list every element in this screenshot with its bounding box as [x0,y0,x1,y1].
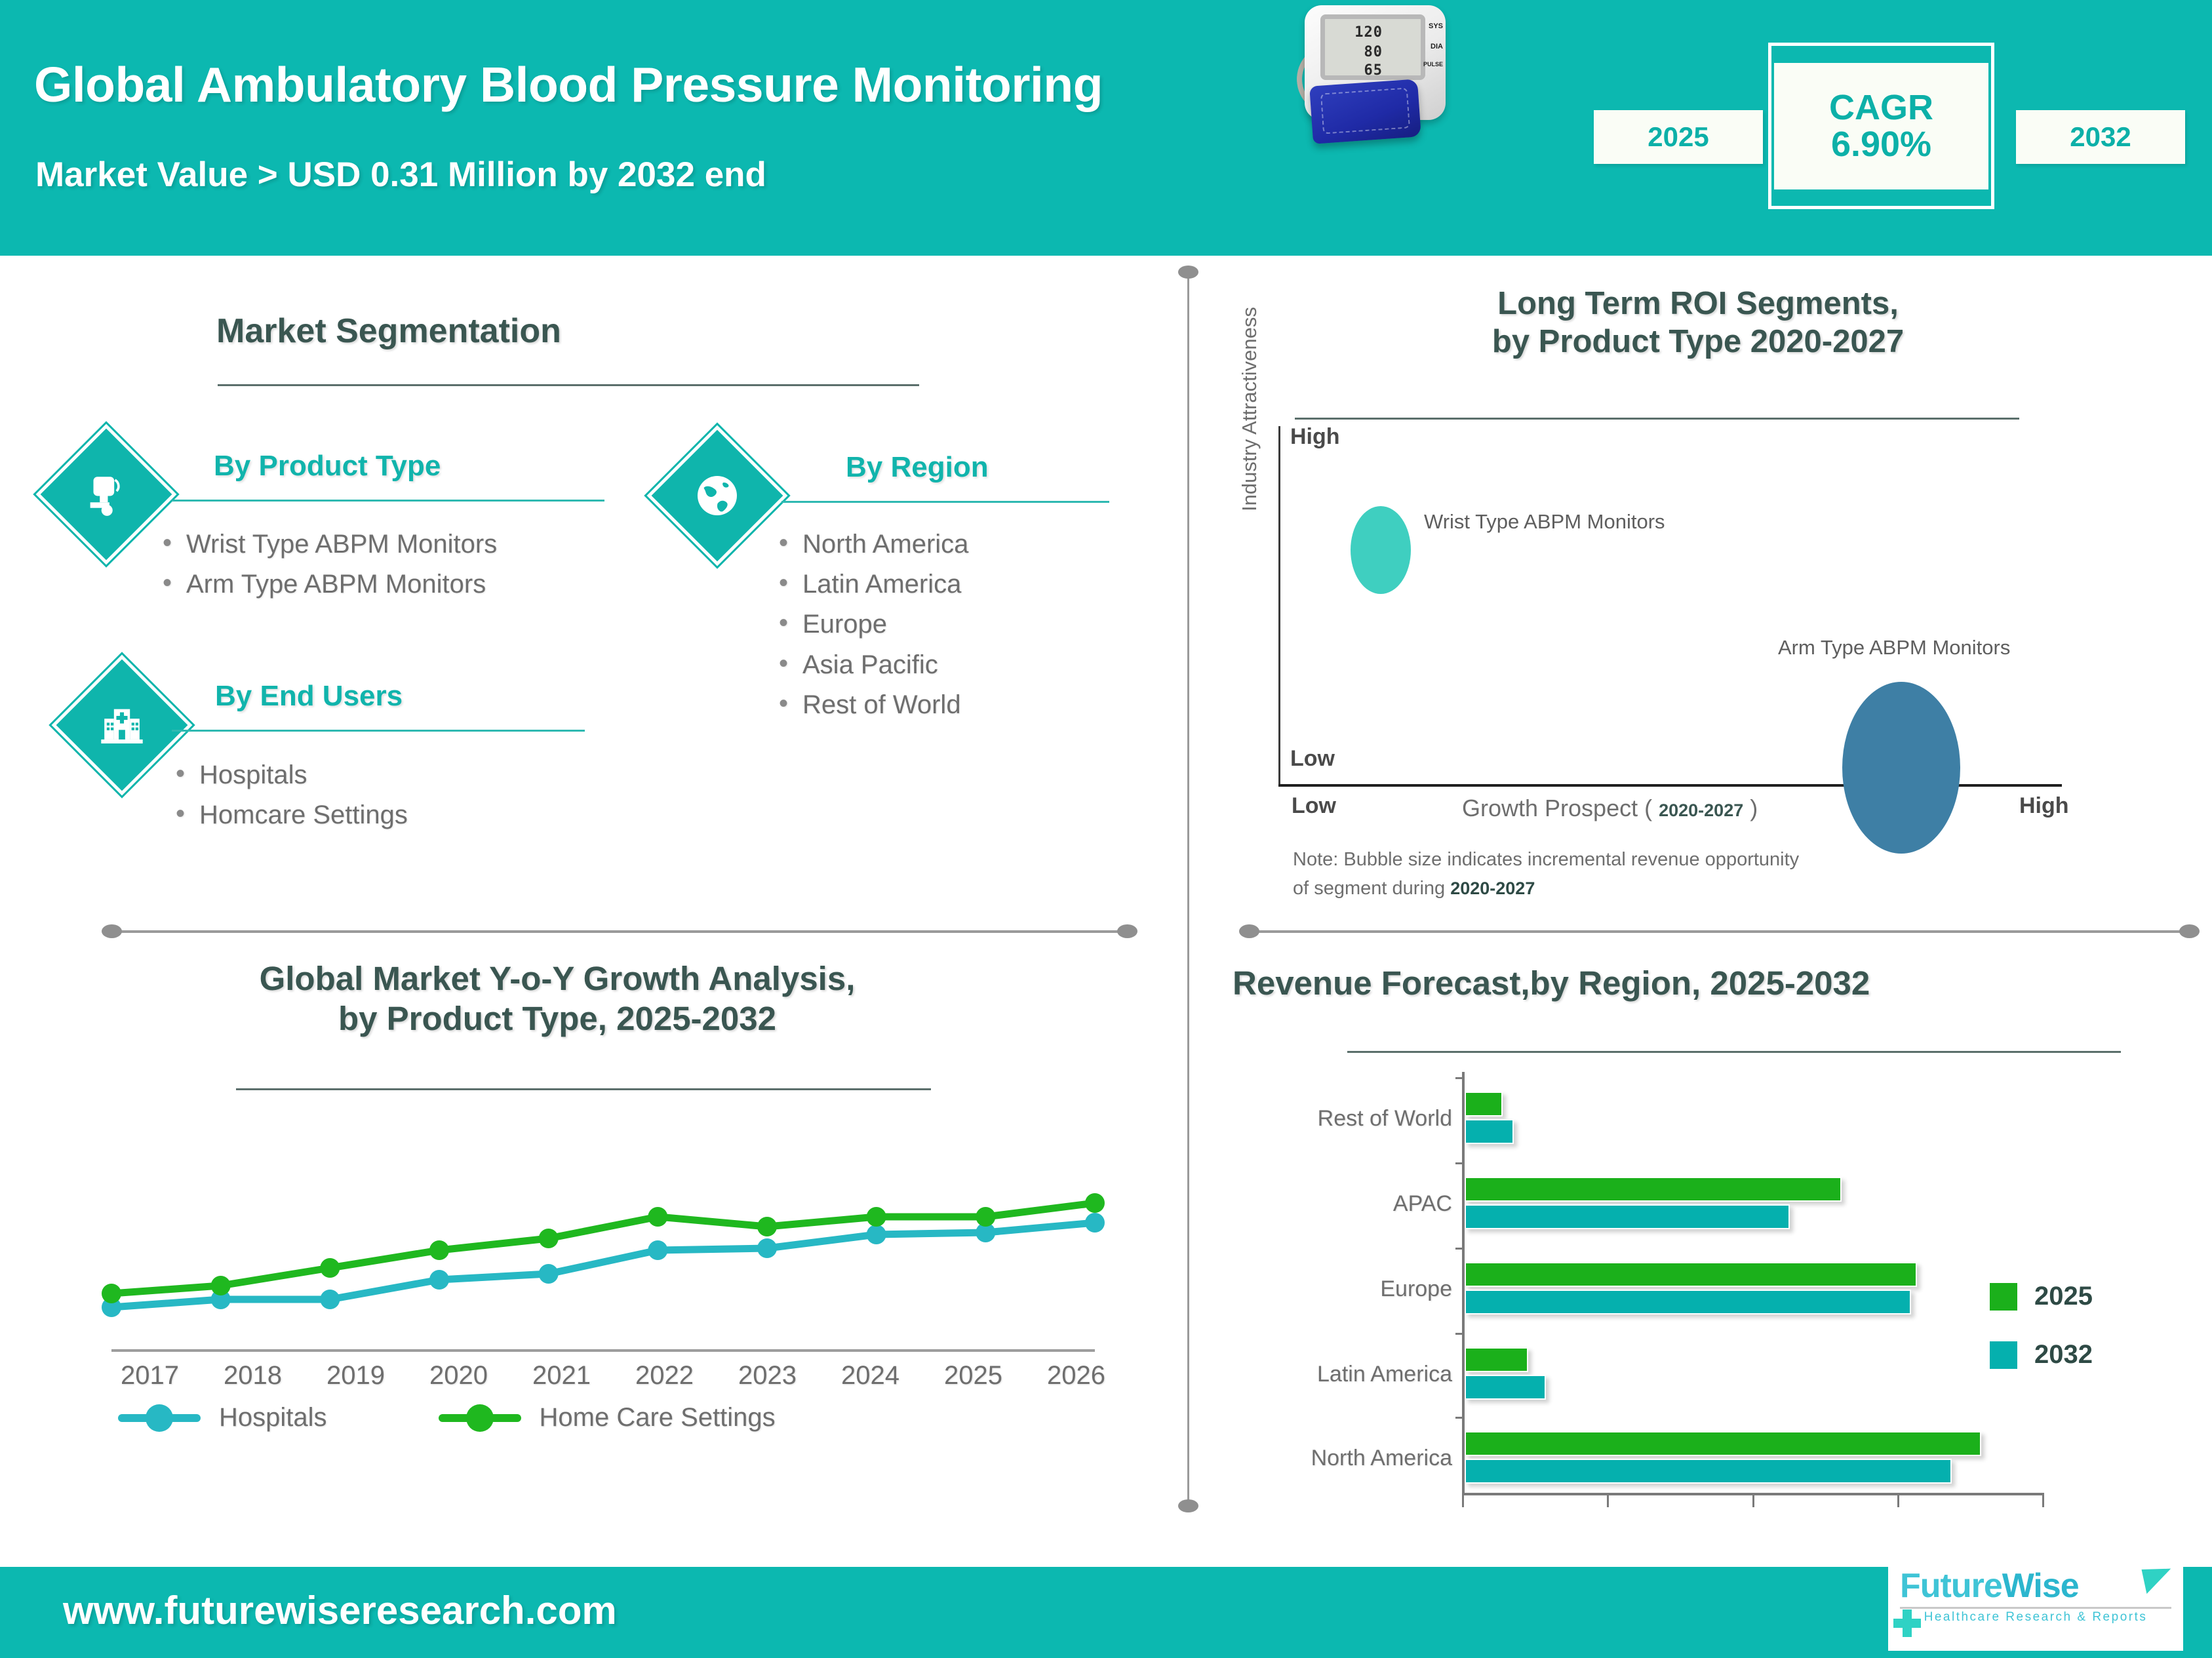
segmentation-title: Market Segmentation [216,311,561,351]
line-x-tick: 2021 [510,1361,613,1391]
line-data-point [539,1229,559,1248]
horizontal-divider-left [111,930,1128,933]
line-data-point [976,1207,995,1227]
region-label: By Region [846,451,989,484]
roi-x-axis-label-text: Growth Prospect ( [1462,795,1652,821]
blood-pressure-monitor-icon [56,444,156,544]
line-x-tick: 2022 [613,1361,716,1391]
line-data-point [648,1207,667,1227]
line-data-point [320,1290,340,1309]
line-data-point [429,1240,449,1260]
globe-icon [667,446,767,545]
bubble-label-arm: Arm Type ABPM Monitors [1778,636,2010,660]
line-chart-svg [98,1154,1160,1351]
end-users-rule [172,730,585,732]
legend-marker-icon [439,1414,521,1422]
website-url[interactable]: www.futurewiseresearch.com [63,1588,617,1633]
bar-y-tick [1455,1417,1465,1419]
bubble-arm-type [1842,682,1960,854]
sys-reading: 120 [1354,24,1383,41]
legend-marker-icon [118,1414,201,1422]
legend-item[interactable]: Home Care Settings [439,1403,776,1432]
cagr-label: CAGR [1829,90,1933,127]
page-footer: www.futurewiseresearch.com [0,1567,2212,1658]
bar-title-underline [1347,1051,2121,1053]
line-series-home-care-settings [111,1203,1095,1293]
hospital-icon [72,675,172,775]
line-x-tick: 2025 [922,1361,1025,1391]
bubble-wrist-type [1351,506,1411,594]
line-x-tick: 2026 [1025,1361,1128,1391]
roi-note: Note: Bubble size indicates incremental … [1293,846,1799,903]
vertical-divider [1187,272,1189,1506]
dia-reading: 80 [1364,44,1383,60]
bar-y-tick [1455,1248,1465,1250]
roi-bubble-chart: Industry Attractiveness High Low Low Hig… [1278,426,2186,813]
list-item: Arm Type ABPM Monitors [157,564,497,604]
page-subtitle: Market Value > USD 0.31 Million by 2032 … [35,155,766,195]
start-year-badge: 2025 [1594,110,1763,164]
pulse-label: PULSE [1423,61,1443,68]
bar-europe-2032 [1465,1290,1911,1314]
line-data-point [102,1284,121,1303]
horizontal-divider-right [1249,930,2190,933]
line-data-point [1085,1213,1105,1233]
bar-x-tick [1607,1493,1609,1507]
bar-north-america-2032 [1465,1459,1952,1484]
legend-item[interactable]: Hospitals [118,1403,327,1432]
bubble-label-wrist: Wrist Type ABPM Monitors [1424,510,1665,534]
segmentation-underline [218,384,919,386]
list-item: Europe [774,604,968,644]
line-x-axis [111,1349,1095,1352]
legend-swatch-icon [1990,1341,2017,1369]
end-year-badge: 2032 [2016,110,2185,164]
roi-x-axis-period: 2020-2027 [1659,800,1743,820]
bar-y-tick [1455,1162,1465,1164]
bar-north-america-2025 [1465,1431,1981,1456]
line-data-point [867,1225,886,1244]
monitor-cuff [1309,79,1421,144]
bar-title-period: 2025-2032 [1710,964,1870,1002]
line-data-point [429,1270,449,1290]
line-data-point [757,1238,777,1258]
line-series-hospitals [111,1223,1095,1307]
bar-rest-of-world-2025 [1465,1092,1503,1116]
logo-divider [1900,1607,2171,1609]
medical-cross-icon [1893,1609,1921,1637]
legend-swatch-icon [1990,1283,2017,1311]
bar-x-tick [1462,1493,1464,1507]
line-title-line1: Global Market Y-o-Y Growth Analysis, [131,958,983,998]
bar-category-label: APAC [1216,1191,1452,1217]
line-chart-legend: HospitalsHome Care Settings [98,1403,1016,1432]
roi-chart-title: Long Term ROI Segments, by Product Type … [1370,285,2026,361]
line-data-point [539,1264,559,1284]
roi-x-high-tick: High [2019,793,2069,819]
bar-category-label: Latin America [1216,1362,1452,1387]
list-item: Homcare Settings [170,795,408,835]
divider-cap-left [1239,924,1259,938]
legend-item[interactable]: 2032 [1990,1340,2093,1370]
legend-item[interactable]: 2025 [1990,1282,2093,1311]
yoy-growth-chart: 2017201820192020202120222023202420252026 [98,1154,1160,1364]
end-users-list: Hospitals Homcare Settings [170,755,408,835]
roi-title-line1: Long Term ROI Segments, [1370,285,2026,323]
pulse-reading: 65 [1364,62,1383,79]
page-title: Global Ambulatory Blood Pressure Monitor… [34,56,1103,113]
sys-label: SYS [1429,22,1443,30]
cagr-badge: CAGR 6.90% [1774,63,1988,189]
line-chart-title: Global Market Y-o-Y Growth Analysis, by … [131,958,983,1038]
roi-y-low-tick: Low [1290,746,1335,772]
line-x-tick: 2018 [201,1361,304,1391]
futurewise-logo: FutureWise Healthcare Research & Reports [1888,1562,2183,1651]
list-item: Hospitals [170,755,408,795]
bar-x-tick [1752,1493,1754,1507]
bar-apac-2032 [1465,1204,1790,1229]
logo-wise-text: Wise [2002,1567,2079,1605]
line-data-point [757,1217,777,1236]
list-item: Latin America [774,564,968,604]
list-item: Asia Pacific [774,645,968,685]
roi-note-line2-wrap: of segment during 2020-2027 [1293,875,1799,903]
product-type-list: Wrist Type ABPM Monitors Arm Type ABPM M… [157,524,497,604]
bar-category-label: Europe [1216,1276,1452,1302]
divider-cap-right [1117,924,1137,938]
logo-wordmark: FutureWise [1900,1569,2171,1603]
bar-category-label: North America [1216,1446,1452,1471]
list-item: North America [774,524,968,564]
roi-title-line2: by Product Type 2020-2027 [1370,323,2026,361]
roi-x-axis-close: ) [1750,795,1758,821]
bar-europe-2025 [1465,1262,1917,1287]
region-rule [781,501,1109,503]
bar-chart-legend: 20252032 [1990,1282,2093,1398]
line-data-point [1085,1193,1105,1213]
roi-y-high-tick: High [1290,424,1340,450]
bar-rest-of-world-2032 [1465,1119,1514,1144]
bar-apac-2025 [1465,1177,1842,1202]
roi-y-axis [1278,426,1280,785]
divider-cap-top [1178,266,1198,279]
line-data-point [867,1207,886,1227]
page-header: Global Ambulatory Blood Pressure Monitor… [0,0,2212,256]
legend-label: Home Care Settings [540,1403,776,1432]
list-item: Wrist Type ABPM Monitors [157,524,497,564]
bar-x-tick [1897,1493,1899,1507]
roi-note-line2: of segment during [1293,878,1445,899]
bar-y-tick [1455,1333,1465,1335]
bar-latin-america-2025 [1465,1347,1528,1372]
line-title-line2: by Product Type, 2025-2032 [131,998,983,1038]
end-users-label: By End Users [215,680,403,713]
divider-cap-right [2179,924,2200,938]
line-x-tick-labels: 2017201820192020202120222023202420252026 [98,1361,1128,1391]
bar-category-label: Rest of World [1216,1106,1452,1132]
monitor-screen: 120 80 65 [1320,14,1425,80]
logo-tagline: Healthcare Research & Reports [1900,1610,2171,1625]
product-type-rule [172,500,604,502]
roi-note-period: 2020-2027 [1450,878,1535,898]
dia-label: DIA [1431,43,1443,50]
line-data-point [211,1276,231,1295]
legend-label: 2032 [2034,1340,2093,1370]
region-list: North America Latin America Europe Asia … [774,524,968,725]
cagr-value: 6.90% [1831,127,1931,163]
bar-chart-title: Revenue Forecast,by Region, 2025-2032 [1233,964,1870,1002]
product-type-label: By Product Type [214,450,441,483]
bar-y-tick [1455,1077,1465,1079]
list-item: Rest of World [774,685,968,725]
roi-x-axis-label: Growth Prospect ( 2020-2027 ) [1462,795,1758,822]
bar-x-tick [2042,1493,2044,1507]
blood-pressure-monitor-image: 120 80 65 SYS DIA PULSE START [1305,5,1455,136]
legend-label: Hospitals [219,1403,327,1432]
bar-title-main: Revenue Forecast,by Region, [1233,964,1710,1002]
roi-y-axis-label: Industry Attractiveness [1238,307,1261,511]
roi-title-underline [1295,418,2019,420]
line-x-tick: 2020 [407,1361,510,1391]
line-x-tick: 2017 [98,1361,201,1391]
line-data-point [648,1240,667,1260]
line-x-tick: 2019 [304,1361,407,1391]
line-x-tick: 2024 [819,1361,922,1391]
bar-latin-america-2032 [1465,1375,1546,1400]
roi-x-low-tick: Low [1292,793,1336,819]
logo-future-text: Future [1900,1567,2002,1605]
divider-cap-left [102,924,122,938]
line-data-point [320,1258,340,1278]
legend-label: 2025 [2034,1282,2093,1311]
roi-note-line1: Note: Bubble size indicates incremental … [1293,846,1799,875]
line-x-tick: 2023 [716,1361,819,1391]
line-title-underline [236,1088,931,1090]
divider-cap-bottom [1178,1499,1198,1512]
